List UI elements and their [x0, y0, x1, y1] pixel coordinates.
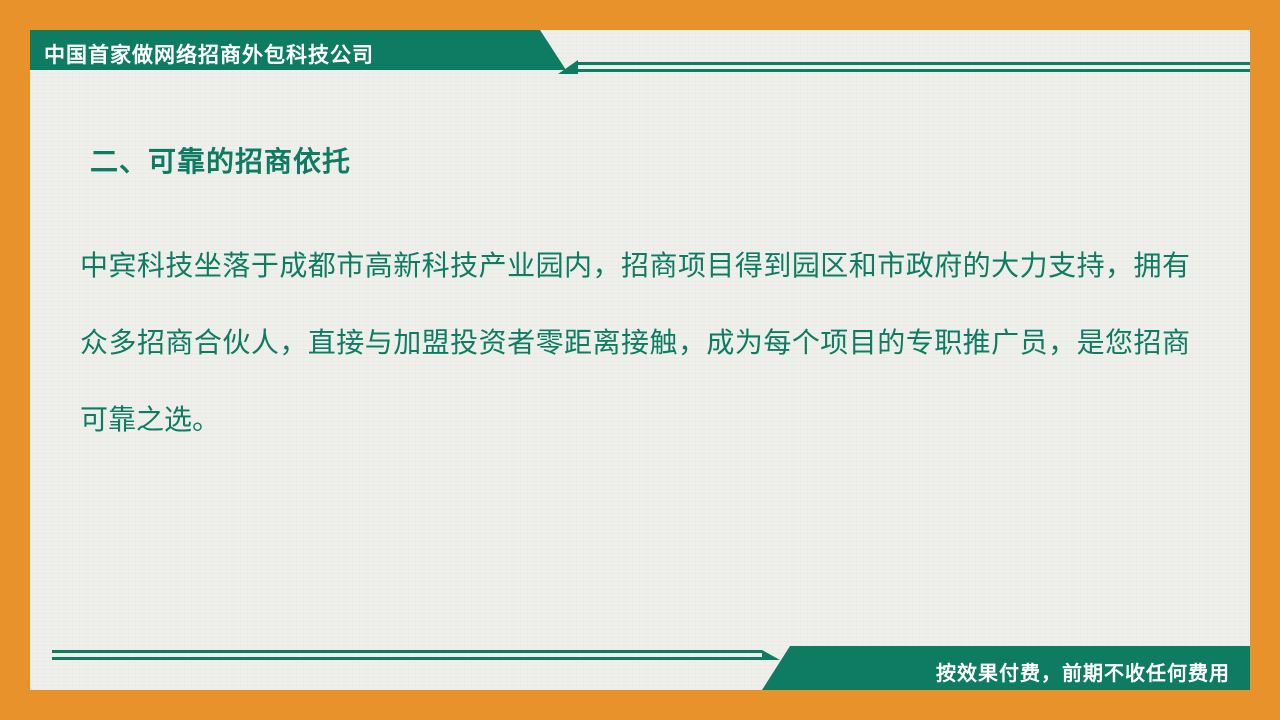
footer-text: 按效果付费，前期不收任何费用 — [936, 657, 1230, 686]
section-heading: 二、可靠的招商依托 — [90, 140, 351, 180]
body-paragraph: 中宾科技坐落于成都市高新科技产业园内，招商项目得到园区和市政府的大力支持，拥有众… — [80, 228, 1190, 459]
header-rule-bottom — [575, 69, 1250, 72]
footer-band: 按效果付费，前期不收任何费用 — [30, 646, 1250, 690]
header-band: 中国首家做网络招商外包科技公司 — [30, 30, 1250, 70]
header-title: 中国首家做网络招商外包科技公司 — [44, 39, 374, 69]
footer-rule-b — [52, 657, 762, 660]
slide: 中国首家做网络招商外包科技公司 二、可靠的招商依托 中宾科技坐落于成都市高新科技… — [0, 0, 1280, 720]
header-rule-top — [575, 62, 1250, 65]
footer-rule-a — [52, 650, 762, 653]
